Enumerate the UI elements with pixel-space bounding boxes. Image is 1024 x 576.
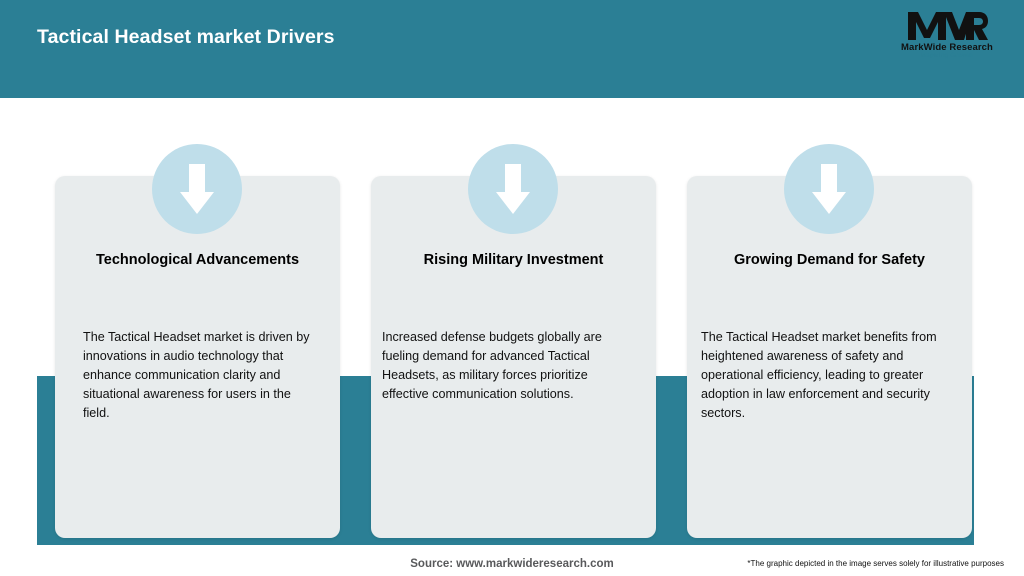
logo-name: MarkWide Research <box>892 42 1002 53</box>
logo: MarkWide Research Inspiring Growth <box>892 8 1002 66</box>
card-title: Rising Military Investment <box>383 252 644 268</box>
card-icon-badge <box>468 144 558 234</box>
card-title: Growing Demand for Safety <box>699 252 960 268</box>
card-icon-badge <box>784 144 874 234</box>
card-body: Increased defense budgets globally are f… <box>382 328 634 404</box>
card-body: The Tactical Headset market is driven by… <box>83 328 318 423</box>
logo-tagline: Inspiring Growth <box>892 53 1002 59</box>
down-arrow-icon <box>152 144 242 234</box>
down-arrow-icon <box>468 144 558 234</box>
disclaimer-label: *The graphic depicted in the image serve… <box>747 559 1004 568</box>
down-arrow-icon <box>784 144 874 234</box>
mwr-monogram-icon <box>906 8 988 42</box>
card-icon-badge <box>152 144 242 234</box>
card-body: The Tactical Headset market benefits fro… <box>701 328 954 423</box>
card-title: Technological Advancements <box>67 252 328 268</box>
header-band <box>0 0 1024 98</box>
page-title: Tactical Headset market Drivers <box>37 26 335 49</box>
